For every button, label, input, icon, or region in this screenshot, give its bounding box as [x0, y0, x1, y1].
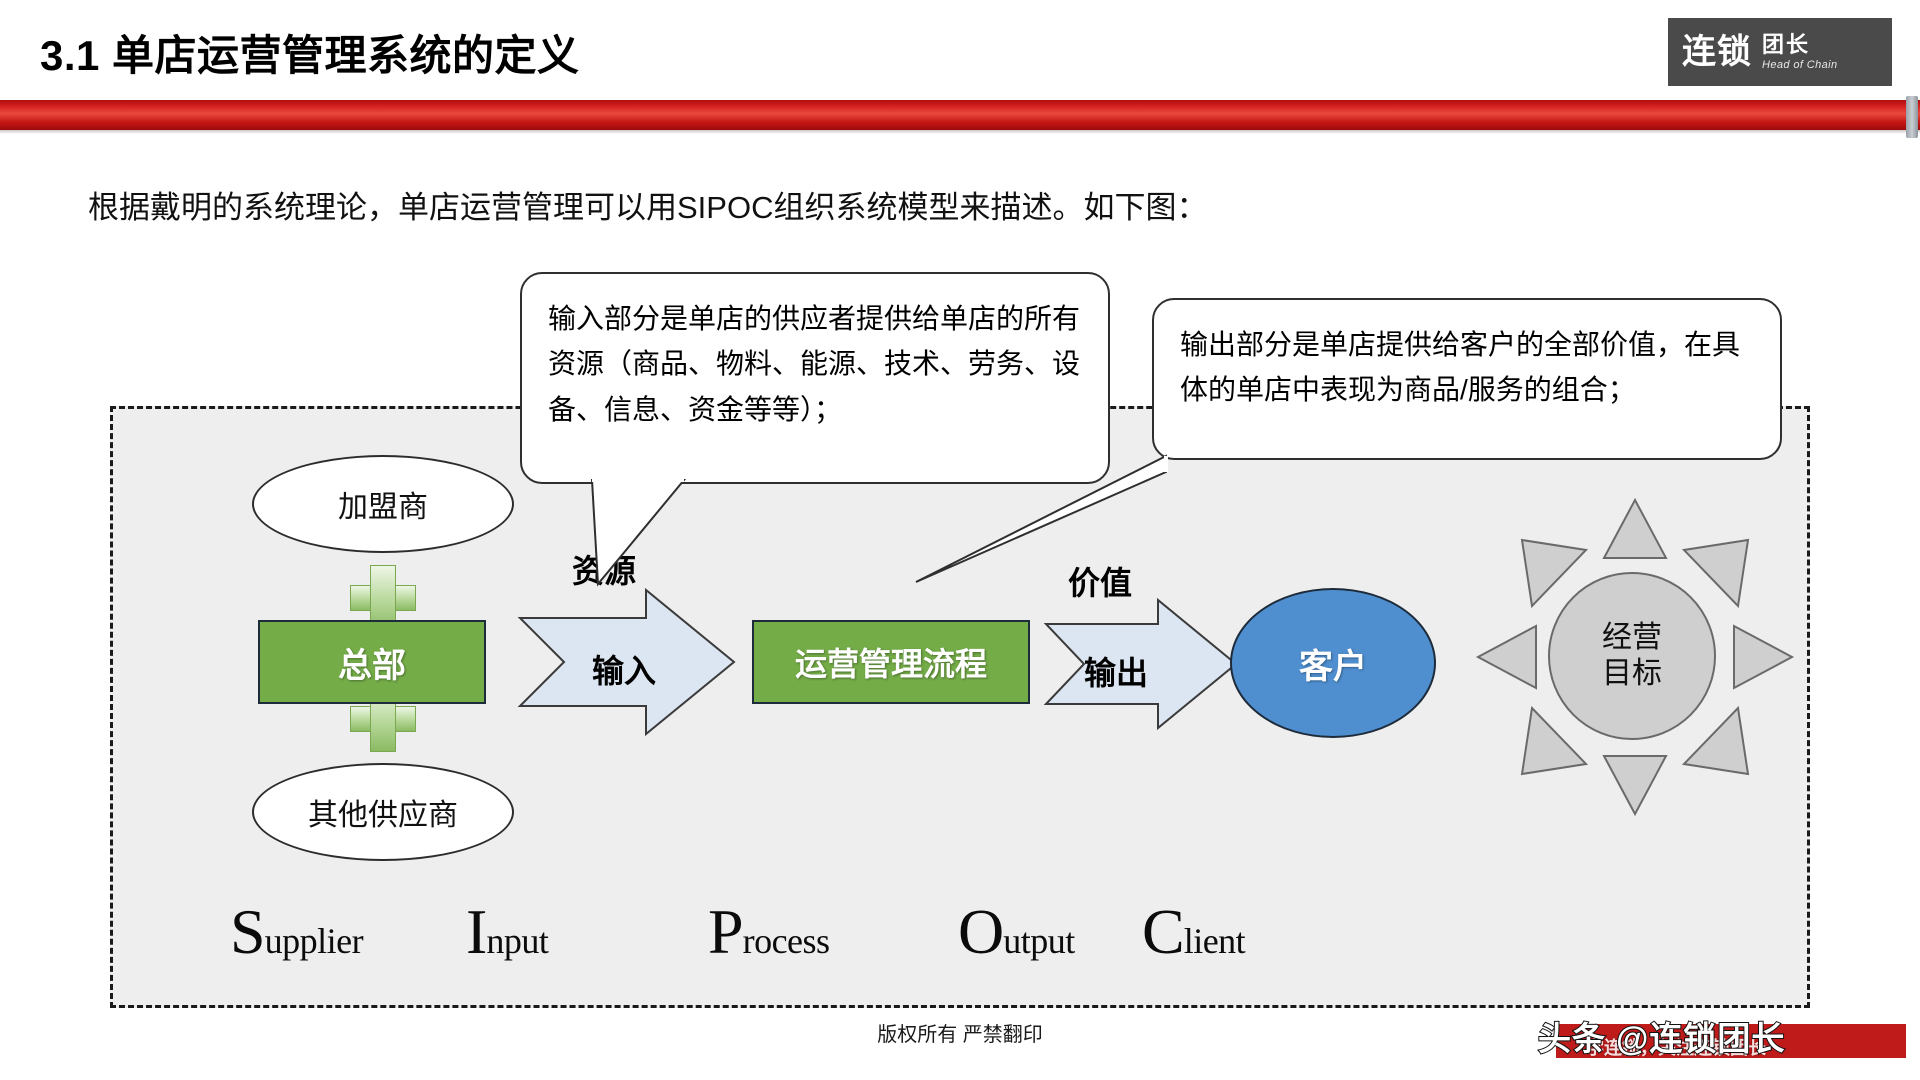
sipoc-legend-row: Supplier Input Process Output Client	[110, 890, 1810, 970]
sipoc-input-capital: I	[466, 896, 486, 967]
arrow-output-inner-label: 输出	[1084, 648, 1148, 694]
node-franchisee: 加盟商	[252, 455, 514, 553]
sipoc-item-output: Output	[958, 900, 1075, 964]
node-other-supplier: 其他供应商	[252, 763, 514, 861]
node-headquarters-label: 总部	[338, 638, 406, 687]
callout-input-text: 输入部分是单店的供应者提供给单店的所有资源（商品、物料、能源、技术、劳务、设备、…	[548, 303, 1080, 425]
brand-logo: 连锁 团长 Head of Chain	[1668, 18, 1892, 86]
ray-west	[1478, 626, 1536, 688]
node-other-supplier-label: 其他供应商	[308, 790, 458, 834]
sipoc-item-supplier: Supplier	[230, 900, 363, 964]
sipoc-supplier-rest: upplier	[265, 921, 363, 961]
node-business-goal-label: 经营 目标	[1602, 620, 1662, 692]
header-divider-bar	[0, 100, 1920, 130]
callout-input: 输入部分是单店的供应者提供给单店的所有资源（商品、物料、能源、技术、劳务、设备、…	[520, 272, 1110, 484]
node-process-label: 运营管理流程	[795, 639, 987, 685]
sipoc-item-input: Input	[466, 900, 548, 964]
sipoc-process-rest: rocess	[743, 921, 830, 961]
sipoc-output-capital: O	[958, 896, 1003, 967]
goal-line-2: 目标	[1602, 657, 1662, 690]
logo-main-text: 连锁	[1682, 35, 1752, 69]
sipoc-process-capital: P	[708, 896, 743, 967]
ray-east	[1734, 626, 1792, 688]
sipoc-output-rest: utput	[1003, 921, 1075, 961]
ray-north	[1604, 500, 1666, 558]
node-process: 运营管理流程	[752, 620, 1030, 704]
callout-output: 输出部分是单店提供给客户的全部价值，在具体的单店中表现为商品/服务的组合；	[1152, 298, 1782, 460]
goal-line-1: 经营	[1602, 621, 1662, 654]
logo-sub-cn-text: 团长	[1762, 33, 1838, 56]
callout-output-text: 输出部分是单店提供给客户的全部价值，在具体的单店中表现为商品/服务的组合；	[1180, 329, 1740, 405]
arrow-input-inner-label: 输入	[592, 646, 656, 692]
node-client-label: 客户	[1299, 639, 1367, 688]
watermark-main-text: 头条 @连锁团长	[1538, 1012, 1916, 1060]
scrollbar-thumb[interactable]	[1906, 96, 1918, 138]
intro-paragraph: 根据戴明的系统理论，单店运营管理可以用SIPOC组织系统模型来描述。如下图：	[88, 182, 1207, 227]
logo-sub-en-text: Head of Chain	[1762, 59, 1838, 71]
sipoc-item-client: Client	[1142, 900, 1245, 964]
arrow-output-top-label: 价值	[1068, 558, 1132, 604]
node-franchisee-label: 加盟商	[338, 482, 428, 526]
node-headquarters: 总部	[258, 620, 486, 704]
sipoc-item-process: Process	[708, 900, 830, 964]
sipoc-supplier-capital: S	[230, 896, 265, 967]
node-business-goal: 经营 目标	[1548, 572, 1716, 740]
arrow-input-top-label: 资源	[572, 546, 636, 592]
ray-southeast	[1684, 708, 1748, 774]
watermark: 学连锁，关注连锁团长 头条 @连锁团长	[1538, 1012, 1916, 1060]
header-divider-shadow	[0, 130, 1920, 134]
sipoc-client-rest: lient	[1184, 921, 1245, 961]
sipoc-input-rest: nput	[486, 921, 548, 961]
ray-northeast	[1684, 540, 1748, 606]
sipoc-client-capital: C	[1142, 896, 1184, 967]
ray-south	[1604, 756, 1666, 814]
logo-secondary-group: 团长 Head of Chain	[1762, 33, 1838, 70]
page-title: 3.1 单店运营管理系统的定义	[40, 22, 580, 83]
node-client: 客户	[1230, 588, 1436, 738]
